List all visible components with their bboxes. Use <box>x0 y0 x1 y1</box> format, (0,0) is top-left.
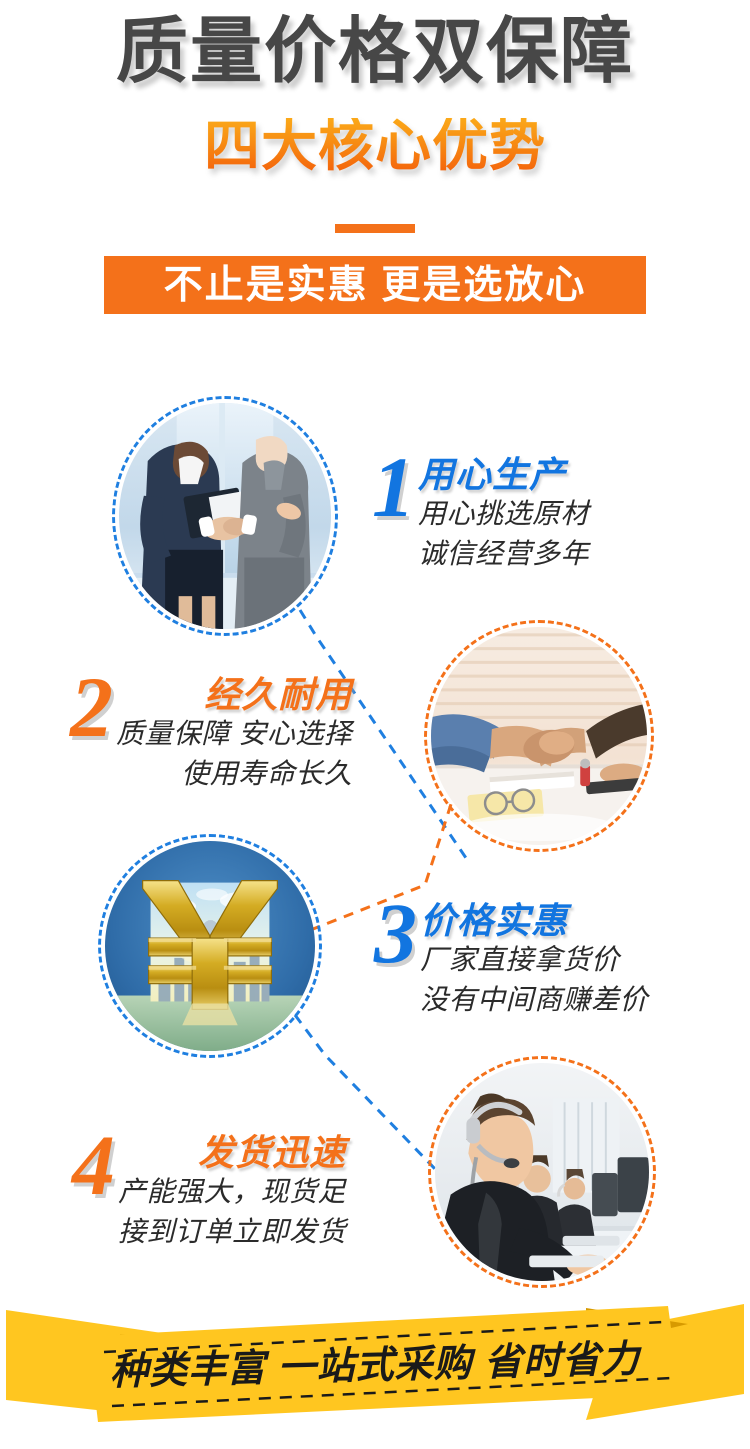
feature-line-3-2: 没有中间商赚差价 <box>420 980 648 1020</box>
page-subtitle: 四大核心优势 <box>0 118 750 174</box>
tagline-banner: 不止是实惠 更是选放心 <box>104 256 646 314</box>
feature-line-4-1: 产能强大，现货足 <box>118 1172 346 1212</box>
call-center-agents-photo <box>435 1063 649 1281</box>
feature-heading-4: 发货迅速 <box>118 1134 346 1172</box>
feature-number-4: 4 <box>72 1130 112 1201</box>
handshake-over-desk-photo <box>431 627 647 845</box>
feature-number-1: 1 <box>372 452 412 523</box>
feature-block-2: 2 经久耐用 质量保障 安心选择 使用寿命长久 <box>70 672 352 793</box>
orange-dash-divider <box>335 224 415 233</box>
feature-line-2-1: 质量保障 安心选择 <box>116 714 352 754</box>
feature-number-3: 3 <box>374 898 414 969</box>
feature-image-2 <box>424 620 654 852</box>
feature-heading-2: 经久耐用 <box>116 676 352 714</box>
golden-yuan-symbol-city-graphic <box>105 841 315 1051</box>
feature-line-3-1: 厂家直接拿货价 <box>420 940 648 980</box>
handshake-business-meeting-photo <box>119 403 331 629</box>
feature-line-1-1: 用心挑选原材 <box>418 494 589 534</box>
feature-block-1: 1 用心生产 用心挑选原材 诚信经营多年 <box>372 452 589 573</box>
page-title: 质量价格双保障 <box>0 16 750 88</box>
feature-heading-1: 用心生产 <box>418 456 589 494</box>
promo-banner-page: 四大核心优势 质量价格双保障 四大核心优势 不止是实惠 更是选放心 <box>0 0 750 1449</box>
feature-block-3: 3 价格实惠 厂家直接拿货价 没有中间商赚差价 <box>374 898 648 1019</box>
feature-heading-3: 价格实惠 <box>420 902 648 940</box>
feature-line-1-2: 诚信经营多年 <box>418 534 589 574</box>
feature-image-1 <box>112 396 338 636</box>
feature-block-4: 4 发货迅速 产能强大，现货足 接到订单立即发货 <box>72 1130 346 1251</box>
feature-line-4-2: 接到订单立即发货 <box>118 1212 346 1252</box>
tagline-banner-text: 不止是实惠 更是选放心 <box>164 266 587 305</box>
feature-number-2: 2 <box>70 672 110 743</box>
feature-image-3 <box>98 834 322 1058</box>
feature-line-2-2: 使用寿命长久 <box>116 754 352 794</box>
feature-image-4 <box>428 1056 656 1288</box>
